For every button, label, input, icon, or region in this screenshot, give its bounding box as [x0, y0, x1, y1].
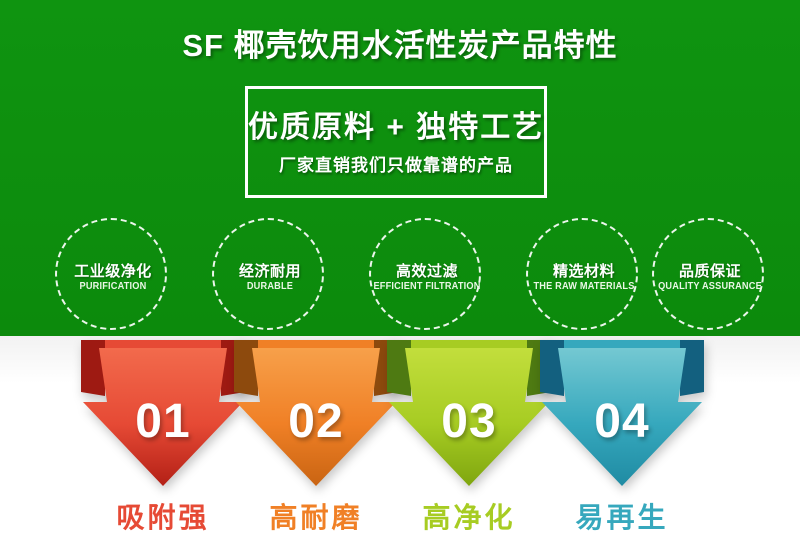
- feature-circle-5-cn: 品质保证: [642, 260, 778, 281]
- down-arrow-icon: [228, 340, 404, 488]
- green-hero-panel: SF 椰壳饮用水活性炭产品特性 优质原料 + 独特工艺 厂家直销我们只做靠谱的产…: [0, 0, 800, 336]
- feature-circle-2: 经济耐用 DURABLE: [212, 218, 324, 330]
- highlight-box: 优质原料 + 独特工艺 厂家直销我们只做靠谱的产品: [245, 86, 547, 198]
- down-arrow-icon: [381, 340, 557, 488]
- feature-circle-2-cn: 经济耐用: [202, 260, 338, 281]
- feature-circle-3-cn: 高效过滤: [359, 260, 495, 281]
- feature-circle-3-en: EFFICIENT FILTRATION: [363, 281, 492, 292]
- down-arrow-icon: [534, 340, 710, 488]
- feature-circle-4: 精选材料 THE RAW MATERIALS: [526, 218, 638, 330]
- arrow-item-4: 04 易再生: [534, 336, 710, 550]
- feature-circle-1-en: PURIFICATION: [49, 281, 178, 292]
- highlight-box-primary-text: 优质原料 + 独特工艺: [248, 102, 544, 146]
- feature-circle-5-en: QUALITY ASSURANCE: [646, 281, 775, 292]
- feature-circle-3: 高效过滤 EFFICIENT FILTRATION: [369, 218, 481, 330]
- feature-circle-4-cn: 精选材料: [516, 260, 652, 281]
- promo-banner: SF 椰壳饮用水活性炭产品特性 优质原料 + 独特工艺 厂家直销我们只做靠谱的产…: [0, 0, 800, 550]
- feature-circle-1: 工业级净化 PURIFICATION: [55, 218, 167, 330]
- feature-circle-4-en: THE RAW MATERIALS: [520, 281, 649, 292]
- arrow-label-4: 易再生: [524, 496, 720, 536]
- feature-circle-2-en: DURABLE: [206, 281, 335, 292]
- page-title: SF 椰壳饮用水活性炭产品特性: [0, 20, 800, 65]
- down-arrow-icon: [75, 340, 251, 488]
- feature-circle-1-cn: 工业级净化: [45, 260, 181, 281]
- feature-circle-list: 工业级净化 PURIFICATION 经济耐用 DURABLE 高效过滤 EFF…: [0, 218, 800, 336]
- feature-circle-5: 品质保证 QUALITY ASSURANCE: [652, 218, 764, 330]
- highlight-box-secondary-text: 厂家直销我们只做靠谱的产品: [248, 151, 544, 176]
